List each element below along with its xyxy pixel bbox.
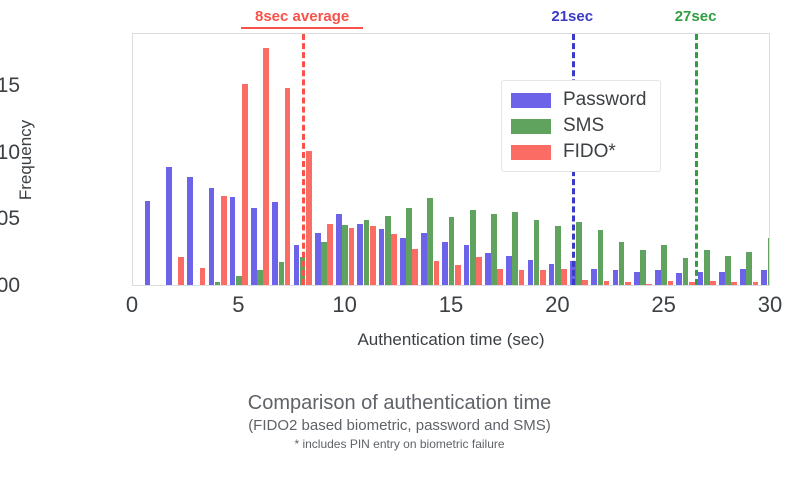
bar-sms-7sec <box>279 262 285 285</box>
chart-legend[interactable]: Password SMS FIDO* <box>501 80 661 172</box>
bar-sms-20sec <box>555 226 561 285</box>
bar-password-10sec <box>336 214 342 285</box>
bar-fido-26sec <box>689 282 695 285</box>
figure-caption: Comparison of authentication time (FIDO2… <box>0 390 799 453</box>
bar-sms-24sec <box>640 250 646 285</box>
x-tick-5: 5 <box>232 292 244 318</box>
bar-sms-19sec <box>534 220 540 285</box>
bar-sms-5sec <box>236 276 242 285</box>
bar-password-14sec <box>421 233 427 285</box>
threshold-label-8sec-average: 8sec average <box>255 8 349 25</box>
bar-sms-30sec <box>768 238 769 285</box>
legend-label-password: Password <box>563 89 646 111</box>
bar-fido-4sec <box>221 196 227 285</box>
bar-sms-4sec <box>215 282 221 285</box>
bar-password-13sec <box>400 238 406 285</box>
bar-fido-29sec <box>753 282 759 285</box>
bar-fido-14sec <box>434 261 440 285</box>
bar-password-3sec <box>187 177 193 285</box>
bar-fido-18sec <box>519 270 525 285</box>
y-tick-0.00: 0.00 <box>0 274 20 298</box>
legend-swatch-password <box>511 93 551 108</box>
x-tick-10: 10 <box>332 292 356 318</box>
bar-sms-15sec <box>449 217 455 285</box>
threshold-label-27sec: 27sec <box>675 8 717 25</box>
bar-fido-21sec <box>582 280 588 285</box>
bar-password-11sec <box>357 224 363 285</box>
bar-fido-28sec <box>731 282 737 285</box>
bar-password-26sec <box>676 273 682 285</box>
bar-password-28sec <box>719 272 725 285</box>
bar-fido-5sec <box>242 84 248 285</box>
bar-fido-17sec <box>497 269 503 285</box>
bar-sms-29sec <box>746 252 752 285</box>
bar-fido-16sec <box>476 257 482 285</box>
bar-sms-25sec <box>661 245 667 285</box>
bar-password-15sec <box>442 242 448 285</box>
bar-password-23sec <box>613 270 619 285</box>
bar-password-7sec <box>272 202 278 285</box>
legend-swatch-fido <box>511 145 551 160</box>
bar-password-18sec <box>506 256 512 285</box>
legend-item-password[interactable]: Password <box>511 87 646 113</box>
bars-layer <box>133 34 769 285</box>
bar-password-17sec <box>485 253 491 285</box>
bar-password-25sec <box>655 270 661 285</box>
bar-password-1sec <box>145 201 151 285</box>
x-tick-0: 0 <box>126 292 138 318</box>
x-tick-20: 20 <box>545 292 569 318</box>
legend-label-sms: SMS <box>563 115 604 137</box>
y-tick-0.15: 0.15 <box>0 74 20 98</box>
bar-fido-10sec <box>349 228 355 285</box>
bar-password-6sec <box>251 208 257 285</box>
threshold-line-8sec-average <box>302 34 305 285</box>
caption-subtitle: (FIDO2 based biometric, password and SMS… <box>0 416 799 436</box>
bar-fido-9sec <box>327 224 333 285</box>
bar-sms-23sec <box>619 242 625 285</box>
bar-sms-21sec <box>576 222 582 285</box>
bar-fido-12sec <box>391 234 397 285</box>
bar-password-29sec <box>740 269 746 285</box>
threshold-line-27sec <box>695 34 698 285</box>
bar-password-5sec <box>230 197 236 285</box>
x-tick-30: 30 <box>758 292 782 318</box>
bar-fido-15sec <box>455 265 461 285</box>
bar-fido-25sec <box>668 281 674 285</box>
bar-sms-13sec <box>406 208 412 285</box>
bar-sms-14sec <box>427 198 433 285</box>
bar-sms-22sec <box>598 230 604 285</box>
bar-sms-10sec <box>342 225 348 285</box>
y-tick-0.05: 0.05 <box>0 207 20 231</box>
caption-footnote: * includes PIN entry on biometric failur… <box>0 436 799 453</box>
bar-password-8sec <box>294 245 300 285</box>
bar-fido-27sec <box>710 281 716 285</box>
threshold-label-underline <box>241 27 363 29</box>
bar-fido-6sec <box>263 48 269 285</box>
bar-fido-8sec <box>306 151 312 285</box>
bar-password-24sec <box>634 272 640 285</box>
bar-sms-11sec <box>364 220 370 285</box>
bar-password-22sec <box>591 269 597 285</box>
bar-fido-22sec <box>604 281 610 285</box>
threshold-label-21sec: 21sec <box>551 8 593 25</box>
legend-swatch-sms <box>511 119 551 134</box>
plot-area: Password SMS FIDO* <box>132 33 770 286</box>
bar-sms-18sec <box>512 212 518 285</box>
bar-password-4sec <box>209 188 215 285</box>
bar-sms-9sec <box>321 242 327 285</box>
y-axis-title: Frequency <box>16 120 36 200</box>
bar-fido-20sec <box>561 269 567 285</box>
caption-title: Comparison of authentication time <box>0 390 799 416</box>
bar-sms-16sec <box>470 210 476 285</box>
authentication-time-chart-figure: 8sec average21sec27sec 0.000.050.100.15 … <box>0 0 799 478</box>
bar-sms-26sec <box>683 258 689 285</box>
bar-password-27sec <box>698 272 704 285</box>
legend-item-sms[interactable]: SMS <box>511 113 646 139</box>
x-tick-15: 15 <box>439 292 463 318</box>
bar-sms-17sec <box>491 214 497 285</box>
y-axis-title-wrap: Frequency <box>30 0 31 1</box>
bar-password-12sec <box>379 229 385 285</box>
bar-sms-27sec <box>704 250 710 285</box>
legend-label-fido: FIDO* <box>563 141 616 163</box>
legend-item-fido[interactable]: FIDO* <box>511 139 646 165</box>
bar-password-9sec <box>315 233 321 285</box>
x-axis-title: Authentication time (sec) <box>357 330 544 350</box>
x-tick-25: 25 <box>651 292 675 318</box>
bar-fido-2sec <box>178 257 184 285</box>
bar-fido-3sec <box>200 268 206 285</box>
bar-password-16sec <box>464 245 470 285</box>
bar-password-19sec <box>528 260 534 285</box>
bar-fido-19sec <box>540 270 546 285</box>
bar-fido-24sec <box>646 284 652 285</box>
bar-fido-7sec <box>285 88 291 285</box>
bar-fido-11sec <box>370 226 376 285</box>
bar-fido-13sec <box>412 249 418 285</box>
bar-password-30sec <box>761 270 767 285</box>
bar-sms-28sec <box>725 256 731 285</box>
bar-sms-12sec <box>385 216 391 285</box>
bar-password-2sec <box>166 167 172 286</box>
bar-sms-6sec <box>257 270 263 285</box>
bar-fido-23sec <box>625 282 631 285</box>
bar-password-20sec <box>549 264 555 285</box>
